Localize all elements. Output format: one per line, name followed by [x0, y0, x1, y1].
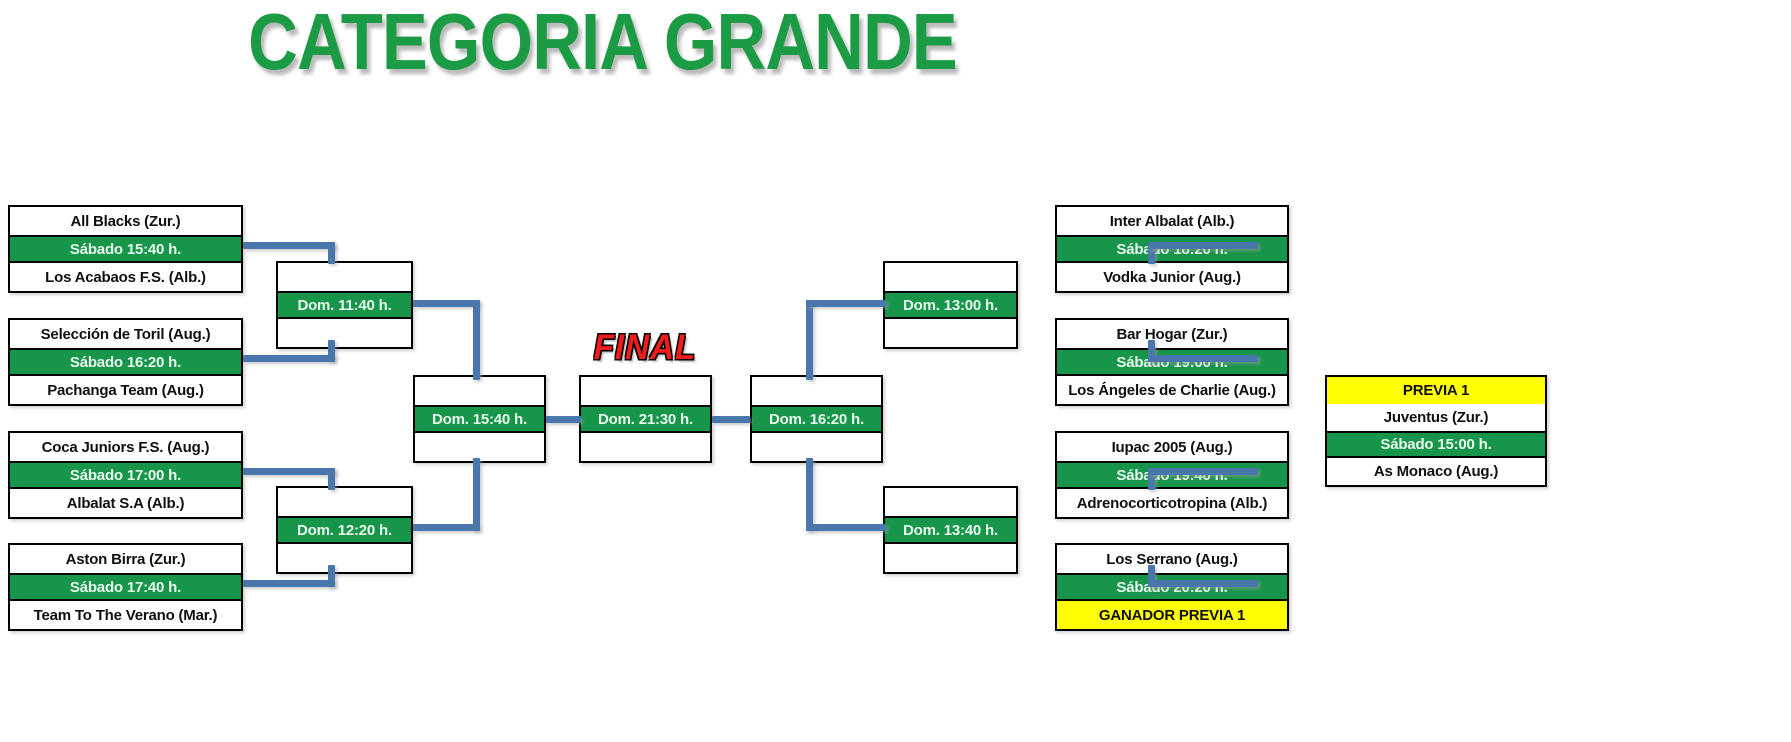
team-slot-top — [581, 377, 710, 405]
team-slot-bottom — [581, 433, 710, 461]
connector-left-r1-2-h — [243, 355, 335, 362]
connector-right-r1-3-h — [1148, 468, 1258, 475]
team-slot-bottom: Vodka Junior (Aug.) — [1057, 263, 1287, 291]
connector-right-r2-2-h — [806, 524, 886, 531]
match-time: Sábado 20:20 h. — [1057, 573, 1287, 601]
connector-right-r1-1-h — [1148, 242, 1258, 249]
match-box-left-r2-1[interactable]: Dom. 11:40 h. — [276, 261, 413, 349]
match-box-right-r2-2[interactable]: Dom. 13:40 h. — [883, 486, 1018, 574]
connector-left-r1-1-v — [328, 242, 335, 264]
team-slot-top — [415, 377, 544, 405]
match-time: Sábado 17:40 h. — [10, 573, 241, 601]
team-slot-bottom: Los Acabaos F.S. (Alb.) — [10, 263, 241, 291]
match-time: Sábado 19:40 h. — [1057, 461, 1287, 489]
match-time: Sábado 19:00 h. — [1057, 348, 1287, 376]
team-slot-top — [278, 488, 411, 516]
team-slot-bottom-winner-previa: GANADOR PREVIA 1 — [1057, 601, 1287, 629]
connector-left-r1-2-v — [328, 340, 335, 362]
connector-left-r1-1-h — [243, 242, 335, 249]
connector-final-right-sf — [712, 416, 750, 423]
connector-right-r2-1-h — [806, 300, 886, 307]
connector-left-sf-final — [546, 416, 581, 423]
team-slot-bottom: Team To The Verano (Mar.) — [10, 601, 241, 629]
team-slot-top — [885, 488, 1016, 516]
match-time: Sábado 15:40 h. — [10, 235, 241, 263]
match-box-right-semifinal[interactable]: Dom. 16:20 h. — [750, 375, 883, 463]
team-slot-top: All Blacks (Zur.) — [10, 207, 241, 235]
team-slot-bottom — [885, 319, 1016, 347]
connector-left-r1-3-v — [328, 468, 335, 490]
connector-left-r2-1-h — [413, 300, 479, 307]
previa-team-top: Juventus (Zur.) — [1327, 404, 1545, 431]
team-slot-top — [752, 377, 881, 405]
match-time: Dom. 21:30 h. — [581, 405, 710, 433]
match-time: Dom. 11:40 h. — [278, 291, 411, 319]
match-time: Sábado 16:20 h. — [10, 348, 241, 376]
previa-match-time: Sábado 15:00 h. — [1327, 431, 1545, 458]
team-slot-bottom — [885, 544, 1016, 572]
team-slot-top: Iupac 2005 (Aug.) — [1057, 433, 1287, 461]
match-box-right-r1-1[interactable]: Inter Albalat (Alb.) Sábado 18:20 h. Vod… — [1055, 205, 1289, 293]
team-slot-bottom — [752, 433, 881, 461]
match-time: Dom. 16:20 h. — [752, 405, 881, 433]
match-box-left-r1-2[interactable]: Selección de Toril (Aug.) Sábado 16:20 h… — [8, 318, 243, 406]
page-title: CATEGORIA GRANDE — [84, 2, 1120, 82]
match-box-right-r2-1[interactable]: Dom. 13:00 h. — [883, 261, 1018, 349]
team-slot-top: Aston Birra (Zur.) — [10, 545, 241, 573]
connector-left-r2-2-h — [413, 524, 479, 531]
team-slot-bottom: Albalat S.A (Alb.) — [10, 489, 241, 517]
team-slot-top: Bar Hogar (Zur.) — [1057, 320, 1287, 348]
team-slot-top: Los Serrano (Aug.) — [1057, 545, 1287, 573]
match-box-left-r1-1[interactable]: All Blacks (Zur.) Sábado 15:40 h. Los Ac… — [8, 205, 243, 293]
connector-right-r1-2-h — [1148, 355, 1258, 362]
previa-header: PREVIA 1 — [1327, 377, 1545, 404]
team-slot-bottom — [278, 544, 411, 572]
match-time: Dom. 13:40 h. — [885, 516, 1016, 544]
match-box-left-r1-4[interactable]: Aston Birra (Zur.) Sábado 17:40 h. Team … — [8, 543, 243, 631]
team-slot-top: Coca Juniors F.S. (Aug.) — [10, 433, 241, 461]
connector-left-r2-1-v — [473, 300, 480, 380]
match-box-left-r2-2[interactable]: Dom. 12:20 h. — [276, 486, 413, 574]
connector-right-r1-4-h — [1148, 580, 1258, 587]
bracket-canvas: CATEGORIA GRANDE FINAL All Blacks (Zur.)… — [0, 0, 1791, 742]
match-time: Sábado 18:20 h. — [1057, 235, 1287, 263]
connector-right-r2-1-v — [806, 300, 813, 380]
team-slot-top — [278, 263, 411, 291]
connector-right-r2-2-v — [806, 458, 813, 531]
match-box-right-r1-2[interactable]: Bar Hogar (Zur.) Sábado 19:00 h. Los Áng… — [1055, 318, 1289, 406]
team-slot-bottom — [415, 433, 544, 461]
team-slot-bottom: Pachanga Team (Aug.) — [10, 376, 241, 404]
connector-left-r1-3-h — [243, 468, 335, 475]
match-box-right-r1-3[interactable]: Iupac 2005 (Aug.) Sábado 19:40 h. Adreno… — [1055, 431, 1289, 519]
team-slot-bottom: Los Ángeles de Charlie (Aug.) — [1057, 376, 1287, 404]
connector-left-r1-4-v — [328, 565, 335, 587]
match-box-right-r1-4[interactable]: Los Serrano (Aug.) Sábado 20:20 h. GANAD… — [1055, 543, 1289, 631]
match-time: Dom. 15:40 h. — [415, 405, 544, 433]
match-box-left-semifinal[interactable]: Dom. 15:40 h. — [413, 375, 546, 463]
match-time: Dom. 12:20 h. — [278, 516, 411, 544]
match-time: Dom. 13:00 h. — [885, 291, 1016, 319]
connector-left-r1-4-h — [243, 580, 335, 587]
team-slot-bottom: Adrenocorticotropina (Alb.) — [1057, 489, 1287, 517]
match-time: Sábado 17:00 h. — [10, 461, 241, 489]
match-box-final[interactable]: Dom. 21:30 h. — [579, 375, 712, 463]
team-slot-top: Selección de Toril (Aug.) — [10, 320, 241, 348]
final-label: FINAL — [574, 328, 717, 368]
match-box-left-r1-3[interactable]: Coca Juniors F.S. (Aug.) Sábado 17:00 h.… — [8, 431, 243, 519]
previa-panel[interactable]: PREVIA 1 Juventus (Zur.) Sábado 15:00 h.… — [1325, 375, 1547, 487]
team-slot-top: Inter Albalat (Alb.) — [1057, 207, 1287, 235]
team-slot-top — [885, 263, 1016, 291]
previa-team-bottom: As Monaco (Aug.) — [1327, 458, 1545, 485]
connector-left-r2-2-v — [473, 458, 480, 531]
team-slot-bottom — [278, 319, 411, 347]
